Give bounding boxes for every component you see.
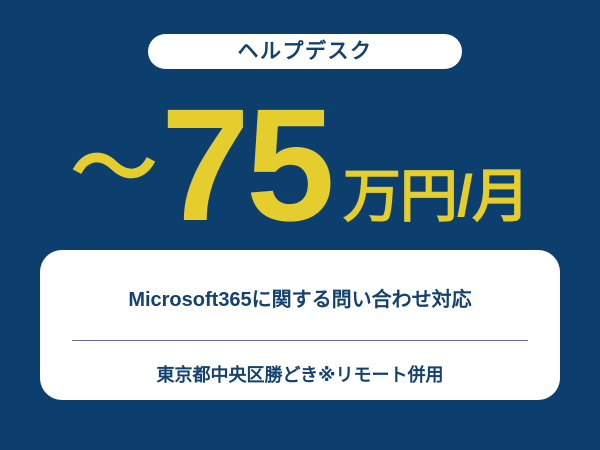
category-badge: ヘルプデスク (148, 34, 462, 69)
price-approx-prefix: 〜 (71, 126, 157, 212)
price-unit: 万円/月 (343, 168, 529, 226)
price-headline: 〜 75 万円/月 (0, 96, 600, 236)
job-description-title: Microsoft365に関する問い合わせ対応 (128, 290, 471, 310)
poster-canvas: ヘルプデスク 〜 75 万円/月 Microsoft365に関する問い合わせ対応… (0, 0, 600, 450)
job-location-text: 東京都中央区勝どき※リモート併用 (157, 366, 444, 384)
card-divider (72, 340, 528, 341)
category-badge-label: ヘルプデスク (238, 41, 373, 62)
price-amount: 75 (161, 95, 331, 236)
info-card: Microsoft365に関する問い合わせ対応 東京都中央区勝どき※リモート併用 (40, 250, 560, 400)
